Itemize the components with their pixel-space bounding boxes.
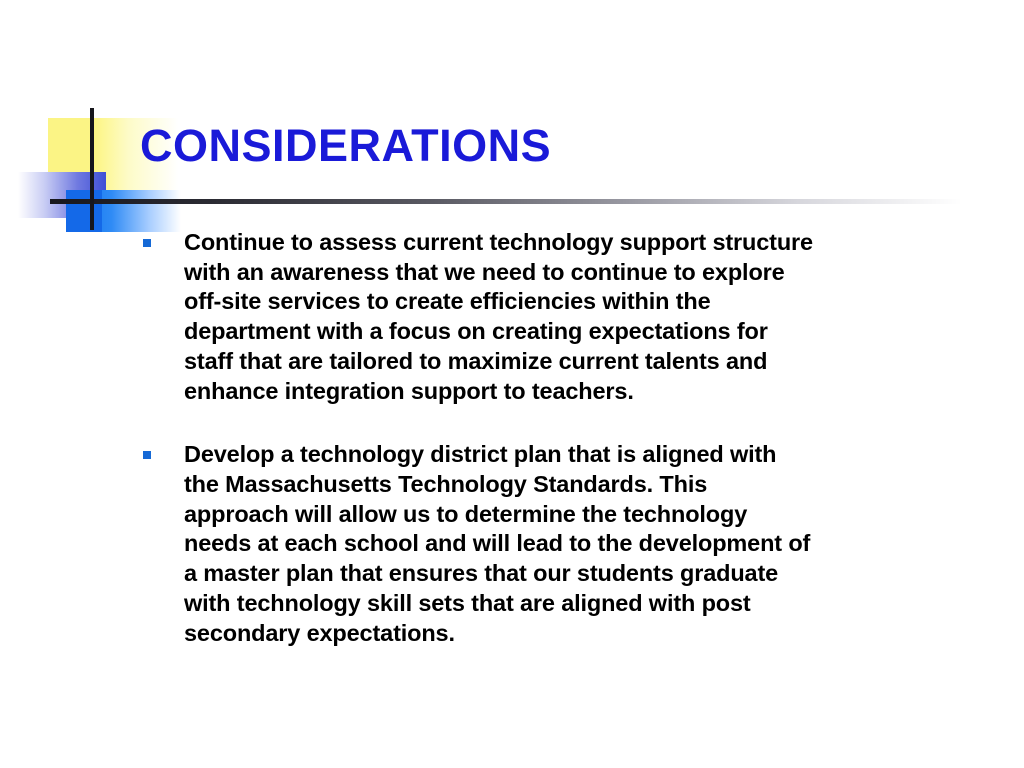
blue-square-shape (66, 190, 102, 232)
bullet-item: Develop a technology district plan that … (140, 440, 1010, 648)
horizontal-rule-gradient (50, 199, 962, 204)
bullet-item-text: Continue to assess current technology su… (184, 228, 1010, 406)
violet-gradient-band-shape (18, 172, 106, 218)
slide-body: Continue to assess current technology su… (140, 228, 1010, 648)
square-bullet-icon (143, 239, 151, 247)
square-bullet-icon (143, 451, 151, 459)
vertical-rule-line (90, 108, 94, 230)
bullet-item: Continue to assess current technology su… (140, 228, 1010, 406)
bullet-item-text: Develop a technology district plan that … (184, 440, 1010, 648)
yellow-square-shape (48, 118, 94, 190)
presentation-slide: CONSIDERATIONS Continue to assess curren… (0, 0, 1024, 768)
blue-gradient-band-shape (69, 190, 181, 232)
slide-title: CONSIDERATIONS (140, 122, 551, 169)
